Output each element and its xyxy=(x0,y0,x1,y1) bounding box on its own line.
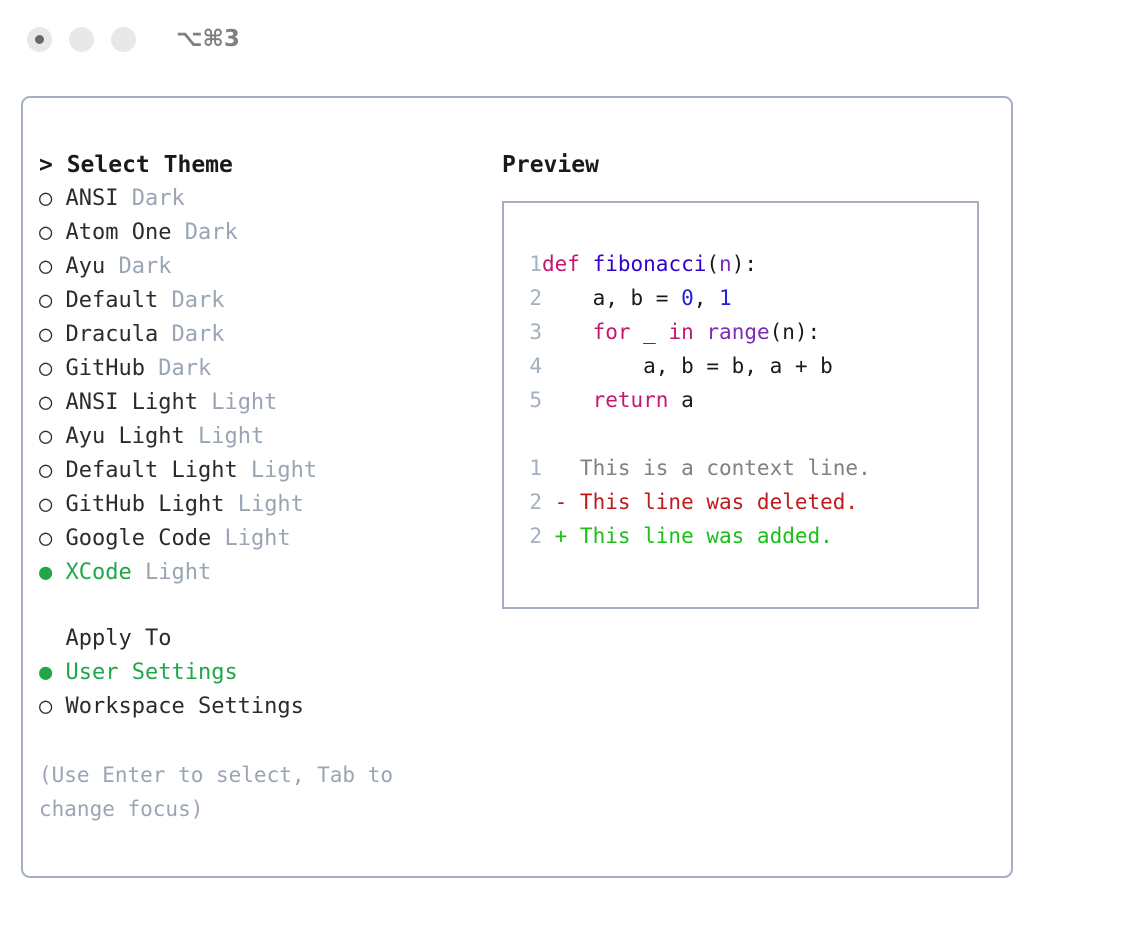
apply-to-option[interactable]: ○ Workspace Settings xyxy=(39,690,489,724)
diff-line: 1 This is a context line. xyxy=(518,451,977,485)
theme-list-item[interactable]: ○ Default Light Light xyxy=(39,454,489,488)
code-text: This is a context line. xyxy=(542,456,871,480)
code-text: def fibonacci(n): xyxy=(542,252,757,276)
token-plain: a, b = xyxy=(542,286,681,310)
window-dot-active-inner xyxy=(35,35,44,44)
theme-name: XCode xyxy=(66,560,132,585)
theme-name: Google Code xyxy=(66,526,212,551)
theme-kind-badge: Dark xyxy=(118,186,184,211)
apply-to-option-label: User Settings xyxy=(66,660,238,685)
token-plain: ( xyxy=(706,252,719,276)
code-diff-separator xyxy=(518,417,977,451)
token-ctx: This is a context line. xyxy=(542,456,871,480)
code-text: a, b = b, a + b xyxy=(542,354,833,378)
radio-unselected-icon: ○ xyxy=(39,492,66,517)
code-line: 1def fibonacci(n): xyxy=(518,247,977,281)
theme-list-item[interactable]: ○ Google Code Light xyxy=(39,522,489,556)
preview-box: 1def fibonacci(n):2 a, b = 0, 13 for _ i… xyxy=(502,201,979,609)
window-controls xyxy=(27,27,136,52)
theme-name: Ayu Light xyxy=(66,424,185,449)
diff-line: 2 - This line was deleted. xyxy=(518,485,977,519)
token-kw: return xyxy=(593,388,669,412)
code-sample: 1def fibonacci(n):2 a, b = 0, 13 for _ i… xyxy=(518,247,977,417)
theme-list-item[interactable]: ○ Dracula Dark xyxy=(39,318,489,352)
window-dot-third[interactable] xyxy=(111,27,136,52)
token-fn: fibonacci xyxy=(593,252,707,276)
radio-unselected-icon: ○ xyxy=(39,424,66,449)
theme-name: Ayu xyxy=(66,254,106,279)
radio-unselected-icon: ○ xyxy=(39,694,66,719)
theme-name: GitHub Light xyxy=(66,492,225,517)
theme-name: Atom One xyxy=(66,220,172,245)
radio-unselected-icon: ○ xyxy=(39,220,66,245)
line-number: 4 xyxy=(518,349,542,383)
line-number: 1 xyxy=(518,247,542,281)
apply-to-list[interactable]: ● User Settings○ Workspace Settings xyxy=(39,656,489,724)
theme-list-item[interactable]: ○ Atom One Dark xyxy=(39,216,489,250)
line-number: 5 xyxy=(518,383,542,417)
token-plain: a, b = b, a + b xyxy=(542,354,833,378)
theme-list-item[interactable]: ○ ANSI Light Light xyxy=(39,386,489,420)
theme-kind-badge: Light xyxy=(224,492,303,517)
code-text: + This line was added. xyxy=(542,524,833,548)
theme-list-item[interactable]: ● XCode Light xyxy=(39,556,489,590)
token-plain xyxy=(580,252,593,276)
radio-unselected-icon: ○ xyxy=(39,254,66,279)
theme-name: ANSI xyxy=(66,186,119,211)
token-plain: ): xyxy=(732,252,757,276)
line-number: 1 xyxy=(518,451,542,485)
theme-kind-badge: Light xyxy=(238,458,317,483)
radio-selected-icon: ● xyxy=(39,660,66,685)
code-line: 5 return a xyxy=(518,383,977,417)
apply-to-option[interactable]: ● User Settings xyxy=(39,656,489,690)
radio-unselected-icon: ○ xyxy=(39,390,66,415)
radio-unselected-icon: ○ xyxy=(39,356,66,381)
token-plain xyxy=(694,320,707,344)
code-text: - This line was deleted. xyxy=(542,490,858,514)
theme-kind-badge: Dark xyxy=(158,322,224,347)
radio-unselected-icon: ○ xyxy=(39,322,66,347)
code-line: 2 a, b = 0, 1 xyxy=(518,281,977,315)
apply-to-option-label: Workspace Settings xyxy=(66,694,304,719)
token-kw: for xyxy=(593,320,631,344)
code-line: 3 for _ in range(n): xyxy=(518,315,977,349)
token-kw: def xyxy=(542,252,580,276)
diff-sample: 1 This is a context line.2 - This line w… xyxy=(518,451,977,553)
token-plain: a xyxy=(668,388,693,412)
window-titlebar: ⌥⌘3 xyxy=(0,0,1140,78)
theme-name: Default Light xyxy=(66,458,238,483)
keyboard-shortcut-label: ⌥⌘3 xyxy=(176,26,240,52)
theme-kind-badge: Light xyxy=(132,560,211,585)
token-add: + This line was added. xyxy=(542,524,833,548)
radio-unselected-icon: ○ xyxy=(39,458,66,483)
theme-name: Default xyxy=(66,288,159,313)
select-theme-heading: > Select Theme xyxy=(39,148,489,182)
panel-columns: > Select Theme ○ ANSI Dark○ Atom One Dar… xyxy=(23,98,1011,876)
theme-list-item[interactable]: ○ Ayu Dark xyxy=(39,250,489,284)
code-line: 4 a, b = b, a + b xyxy=(518,349,977,383)
code-text: for _ in range(n): xyxy=(542,320,820,344)
theme-column: > Select Theme ○ ANSI Dark○ Atom One Dar… xyxy=(39,148,489,826)
line-number: 3 xyxy=(518,315,542,349)
code-text: a, b = 0, 1 xyxy=(542,286,732,310)
theme-kind-badge: Light xyxy=(198,390,277,415)
keyboard-hint-text: (Use Enter to select, Tab to change focu… xyxy=(39,758,439,826)
theme-kind-badge: Light xyxy=(185,424,264,449)
line-number: 2 xyxy=(518,281,542,315)
radio-unselected-icon: ○ xyxy=(39,288,66,313)
radio-unselected-icon: ○ xyxy=(39,186,66,211)
theme-kind-badge: Dark xyxy=(105,254,171,279)
theme-name: Dracula xyxy=(66,322,159,347)
line-number: 2 xyxy=(518,519,542,553)
token-plain xyxy=(542,388,593,412)
theme-list-item[interactable]: ○ GitHub Dark xyxy=(39,352,489,386)
token-purp: n xyxy=(719,252,732,276)
token-plain: _ xyxy=(631,320,669,344)
theme-kind-badge: Light xyxy=(211,526,290,551)
theme-name: ANSI Light xyxy=(66,390,198,415)
theme-kind-badge: Dark xyxy=(158,288,224,313)
apply-to-heading: Apply To xyxy=(39,622,489,656)
theme-list-item[interactable]: ○ GitHub Light Light xyxy=(39,488,489,522)
theme-list[interactable]: ○ ANSI Dark○ Atom One Dark○ Ayu Dark○ De… xyxy=(39,182,489,590)
theme-kind-badge: Dark xyxy=(145,356,211,381)
theme-list-item[interactable]: ○ Ayu Light Light xyxy=(39,420,489,454)
token-del: - This line was deleted. xyxy=(542,490,858,514)
radio-selected-icon: ● xyxy=(39,560,66,585)
preview-column: Preview 1def fibonacci(n):2 a, b = 0, 13… xyxy=(502,148,1002,609)
theme-name: GitHub xyxy=(66,356,145,381)
token-num: 0 xyxy=(681,286,694,310)
code-text: return a xyxy=(542,388,694,412)
token-purp: range xyxy=(706,320,769,344)
token-plain xyxy=(542,320,593,344)
window-dot-active[interactable] xyxy=(27,27,52,52)
radio-unselected-icon: ○ xyxy=(39,526,66,551)
theme-kind-badge: Dark xyxy=(171,220,237,245)
token-plain: (n): xyxy=(770,320,821,344)
line-number: 2 xyxy=(518,485,542,519)
theme-list-item[interactable]: ○ Default Dark xyxy=(39,284,489,318)
token-kw: in xyxy=(668,320,693,344)
theme-list-item[interactable]: ○ ANSI Dark xyxy=(39,182,489,216)
diff-line: 2 + This line was added. xyxy=(518,519,977,553)
token-plain: , xyxy=(694,286,719,310)
window-dot-second[interactable] xyxy=(69,27,94,52)
theme-picker-panel: > Select Theme ○ ANSI Dark○ Atom One Dar… xyxy=(21,96,1013,878)
token-num: 1 xyxy=(719,286,732,310)
preview-heading: Preview xyxy=(502,148,1002,182)
